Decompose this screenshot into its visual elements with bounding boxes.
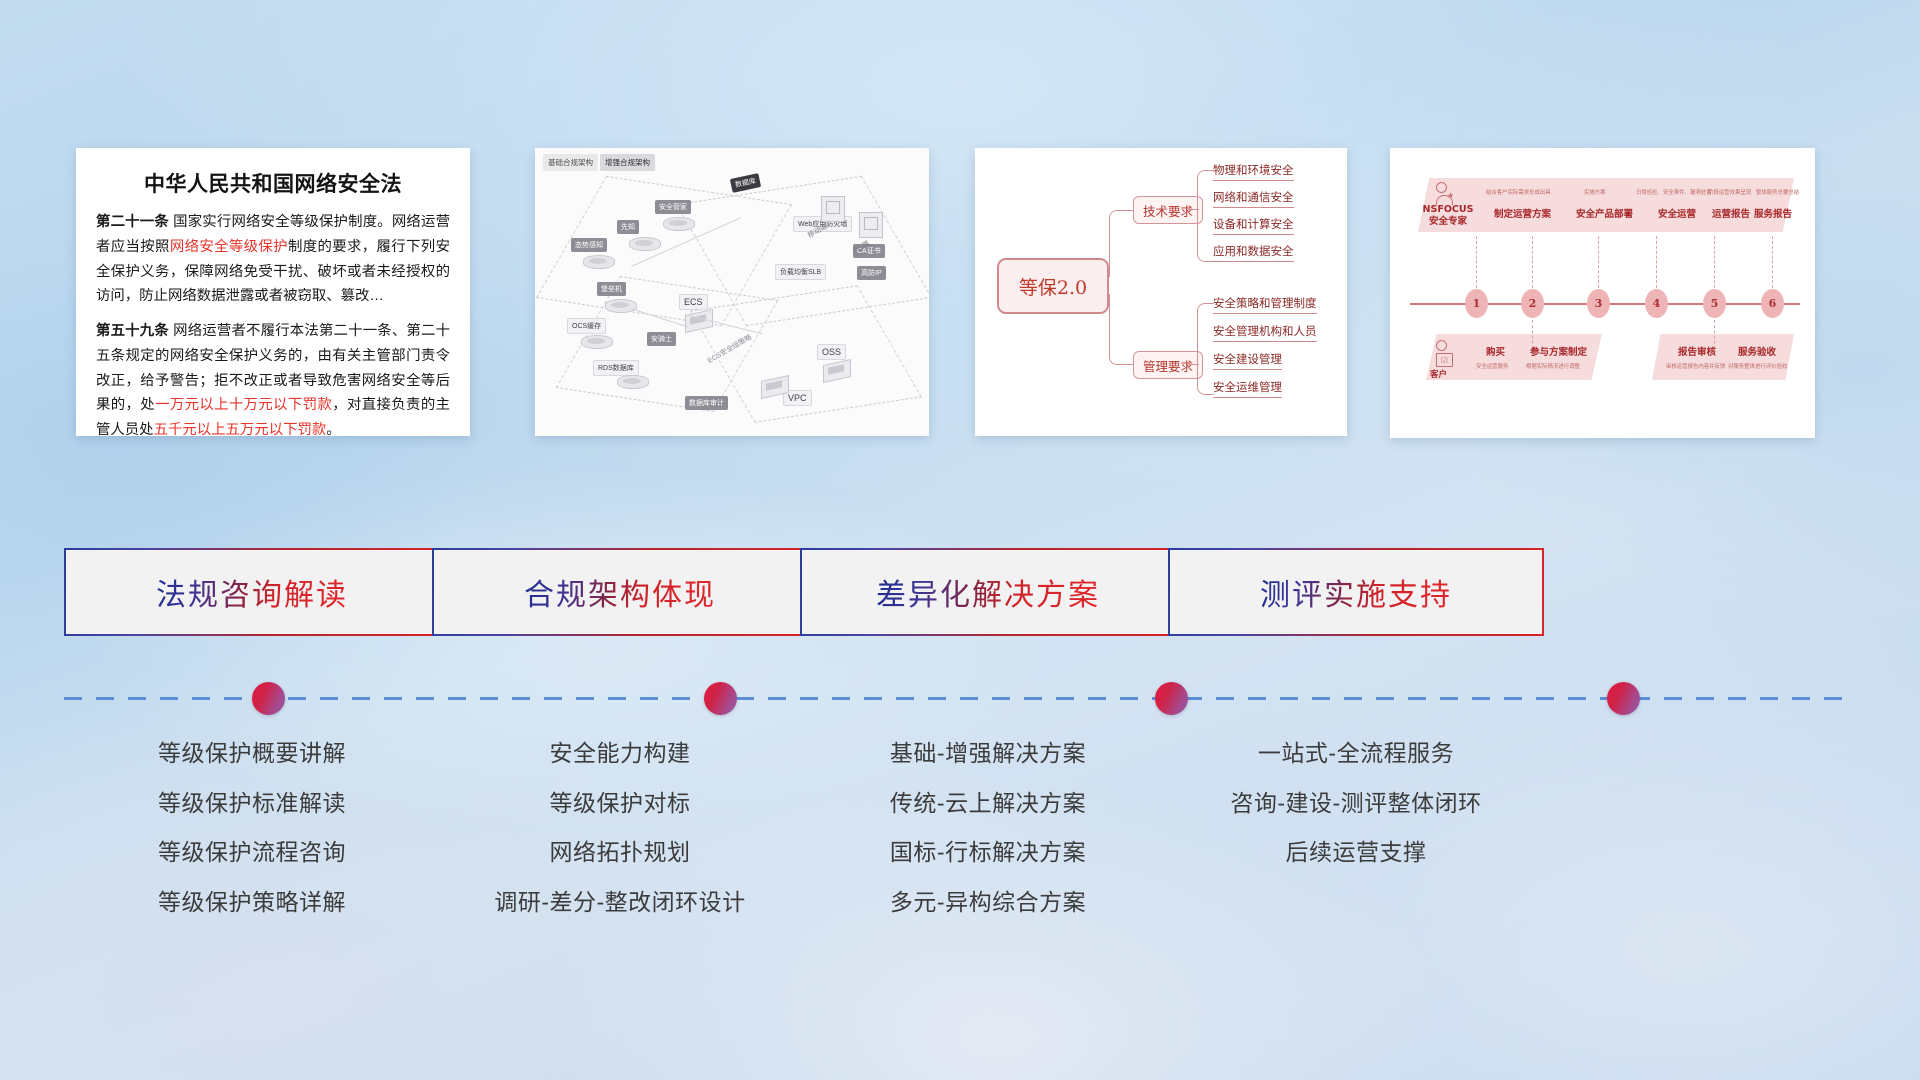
timeline-node-dot-2[interactable] (704, 682, 737, 715)
svc-tick-2 (1532, 236, 1533, 288)
svc-top-main-4: 运营报告 (1712, 206, 1750, 220)
law-article-59-highlight-a: 一万元以上十万元以下罚款 (155, 397, 332, 413)
svc-bottom-sub-2: 根据实际情况进行调整 (1526, 362, 1580, 370)
svc-top-role-label: NSFOCUS安全专家 (1422, 204, 1474, 228)
title-label-1: 法规咨询解读 (156, 570, 348, 614)
svc-tick-4 (1656, 236, 1657, 288)
arch-node-slb: 负载均衡SLB (775, 264, 826, 280)
svc-tick-6 (1772, 236, 1773, 288)
detail-item-4-3: 后续运营支撑 (1126, 839, 1586, 867)
title-label-3: 差异化解决方案 (876, 570, 1100, 614)
mindmap-root-node: 等保2.0 (997, 258, 1109, 314)
title-label-2: 合规架构体现 (524, 570, 716, 614)
title-box-4[interactable]: 测评实施支持 (1168, 548, 1544, 636)
svc-tick-1 (1476, 236, 1477, 288)
detail-item-4-1: 一站式-全流程服务 (1126, 740, 1586, 768)
arch-tab-bar: 基础合规架构 增强合规架构 (543, 154, 655, 171)
arch-node-anti-ddos: 高防IP (857, 266, 886, 280)
law-article-59-label: 第五十九条 (96, 323, 169, 339)
mindmap-leaf-mgmt-4: 安全运维管理 (1213, 379, 1282, 398)
svc-bottom-sub-1: 安全运营服务 (1476, 362, 1508, 370)
arch-tab-enhanced[interactable]: 增强合规架构 (600, 154, 655, 171)
svc-top-sub-5: 整体服务总要总结 (1756, 188, 1799, 196)
infographic-root: 中华人民共和国网络安全法 第二十一条 国家实行网络安全等级保护制度。网络运营者应… (0, 0, 1920, 1080)
svc-bottom-sub-3: 审核运营报告内容并反馈 (1666, 362, 1725, 370)
mindmap-stub-tech (1187, 209, 1199, 210)
title-box-1[interactable]: 法规咨询解读 (64, 548, 440, 636)
arch-node-anqishi: 安骑士 (647, 332, 676, 346)
timeline-node-dot-3[interactable] (1155, 682, 1188, 715)
arch-icon-cylinder-5 (581, 330, 611, 350)
svc-bottom-main-3: 报告审核 (1678, 344, 1716, 358)
arch-icon-cube-oss (821, 356, 851, 382)
detail-item-4-2: 咨询-建设-测评整体闭环 (1126, 790, 1586, 818)
section-title-row: 法规咨询解读 合规架构体现 差异化解决方案 测评实施支持 (0, 548, 1920, 640)
timeline-dashed-line (64, 697, 1856, 700)
law-article-21-highlight: 网络安全等级保护 (170, 239, 288, 255)
mindmap-leaf-mgmt-3: 安全建设管理 (1213, 351, 1282, 370)
detail-list-4: 一站式-全流程服务 咨询-建设-测评整体闭环 后续运营支撑 (1126, 740, 1586, 889)
svc-top-sub-1: 结合客户实际需求形成出具 (1486, 188, 1551, 196)
svc-step-dot-2[interactable]: 2 (1521, 289, 1544, 318)
svc-bottom-role-label: 客户 (1430, 368, 1447, 380)
svc-step-dot-4[interactable]: 4 (1645, 289, 1668, 318)
arch-node-database: 数据库 (730, 173, 761, 193)
card-law-text[interactable]: 中华人民共和国网络安全法 第二十一条 国家实行网络安全等级保护制度。网络运营者应… (76, 148, 470, 436)
law-title: 中华人民共和国网络安全法 (96, 168, 450, 198)
svc-step-dot-3[interactable]: 3 (1587, 289, 1610, 318)
mindmap-leaf-mgmt-1: 安全策略和管理制度 (1213, 295, 1317, 314)
arch-icon-cylinder-1 (663, 212, 693, 232)
law-article-59-text-c: 。 (326, 422, 340, 436)
mindmap-stub-mgmt (1187, 364, 1199, 365)
arch-tab-basic[interactable]: 基础合规架构 (543, 154, 598, 171)
law-article-21-label: 第二十一条 (96, 214, 169, 230)
title-box-3[interactable]: 差异化解决方案 (800, 548, 1176, 636)
card-service-timeline[interactable]: ★ NSFOCUS安全专家 结合客户实际需求形成出具 制定运营方案 实施方案 安… (1390, 148, 1815, 438)
timeline-node-dot-1[interactable] (252, 682, 285, 715)
arch-icon-cylinder-6 (617, 370, 647, 390)
svc-tick-3 (1598, 236, 1599, 288)
arch-icon-cylinder-3 (583, 250, 613, 270)
mindmap-leaf-tech-1: 物理和环境安全 (1213, 162, 1294, 181)
arch-icon-cylinder-4 (605, 294, 635, 314)
arch-node-db-audit: 数据库审计 (685, 396, 728, 410)
arch-icon-cylinder-2 (629, 232, 659, 252)
law-article-59: 第五十九条 网络运营者不履行本法第二十一条、第二十五条规定的网络安全保护义务的，… (96, 319, 450, 436)
mindmap-connector-tech (1109, 210, 1134, 277)
mindmap-leaf-mgmt-2: 安全管理机构和人员 (1213, 323, 1317, 342)
svc-bottom-main-4: 服务验收 (1738, 344, 1776, 358)
svc-top-main-2: 安全产品部署 (1576, 206, 1633, 220)
mindmap-branch-tech: 技术要求 (1133, 196, 1203, 224)
mindmap-leaf-tech-4: 应用和数据安全 (1213, 243, 1294, 262)
customer-person-icon: ☑ (1436, 340, 1453, 367)
arch-icon-screen-pc (859, 212, 883, 238)
card-mind-map[interactable]: 等保2.0 技术要求 管理要求 物理和环境安全 网络和通信安全 设备和计算安全 … (975, 148, 1347, 436)
mindmap-fan-mgmt (1197, 303, 1214, 395)
detail-lists-row: 等级保护概要讲解 等级保护标准解读 等级保护流程咨询 等级保护策略详解 安全能力… (0, 740, 1920, 960)
mindmap-branch-mgmt: 管理要求 (1133, 351, 1203, 379)
svc-bottom-main-1: 购买 (1486, 344, 1505, 358)
mindmap-leaf-tech-2: 网络和通信安全 (1213, 189, 1294, 208)
mindmap-fan-tech (1197, 170, 1214, 262)
title-box-2[interactable]: 合规架构体现 (432, 548, 808, 636)
svc-bottom-main-2: 参与方案制定 (1530, 344, 1587, 358)
svc-bottom-sub-4: 对服务整体进行评价验收 (1728, 362, 1787, 370)
law-article-59-highlight-b: 五千元以上五万元以下罚款 (154, 422, 327, 436)
svc-step-dot-1[interactable]: 1 (1465, 289, 1488, 318)
svc-step-dot-5[interactable]: 5 (1703, 289, 1726, 318)
svc-top-banner (1418, 178, 1794, 232)
card-architecture-diagram[interactable]: 基础合规架构 增强合规架构 数据库 安全管家 先知 态势感知 堡垒机 ECS (535, 148, 929, 436)
thumbnail-cards-row: 中华人民共和国网络安全法 第二十一条 国家实行网络安全等级保护制度。网络运营者应… (0, 148, 1920, 438)
arch-icon-screen-mobile (821, 196, 845, 222)
svc-top-sub-2: 实施方案 (1584, 188, 1606, 196)
arch-icon-cube-vpc (759, 372, 789, 398)
detail-item-3-4: 多元-异构综合方案 (758, 889, 1218, 917)
title-label-4: 测评实施支持 (1260, 570, 1452, 614)
svc-top-main-1: 制定运营方案 (1494, 206, 1551, 220)
svc-top-sub-3: 日常巡检、安全事件、漏洞处置 (1636, 188, 1711, 196)
law-article-21: 第二十一条 国家实行网络安全等级保护制度。网络运营者应当按照网络安全等级保护制度… (96, 210, 450, 309)
svc-top-main-5: 服务报告 (1754, 206, 1792, 220)
expert-person-icon: ★ (1436, 182, 1453, 205)
svc-step-dot-6[interactable]: 6 (1761, 289, 1784, 318)
svc-top-main-3: 安全运营 (1658, 206, 1696, 220)
mindmap-leaf-tech-3: 设备和计算安全 (1213, 216, 1294, 235)
timeline-node-dot-4[interactable] (1607, 682, 1640, 715)
svc-top-sub-4: 阶段运营效果呈现 (1708, 188, 1751, 196)
mindmap-connector-mgmt (1109, 294, 1134, 365)
svc-tick-5 (1714, 236, 1715, 288)
